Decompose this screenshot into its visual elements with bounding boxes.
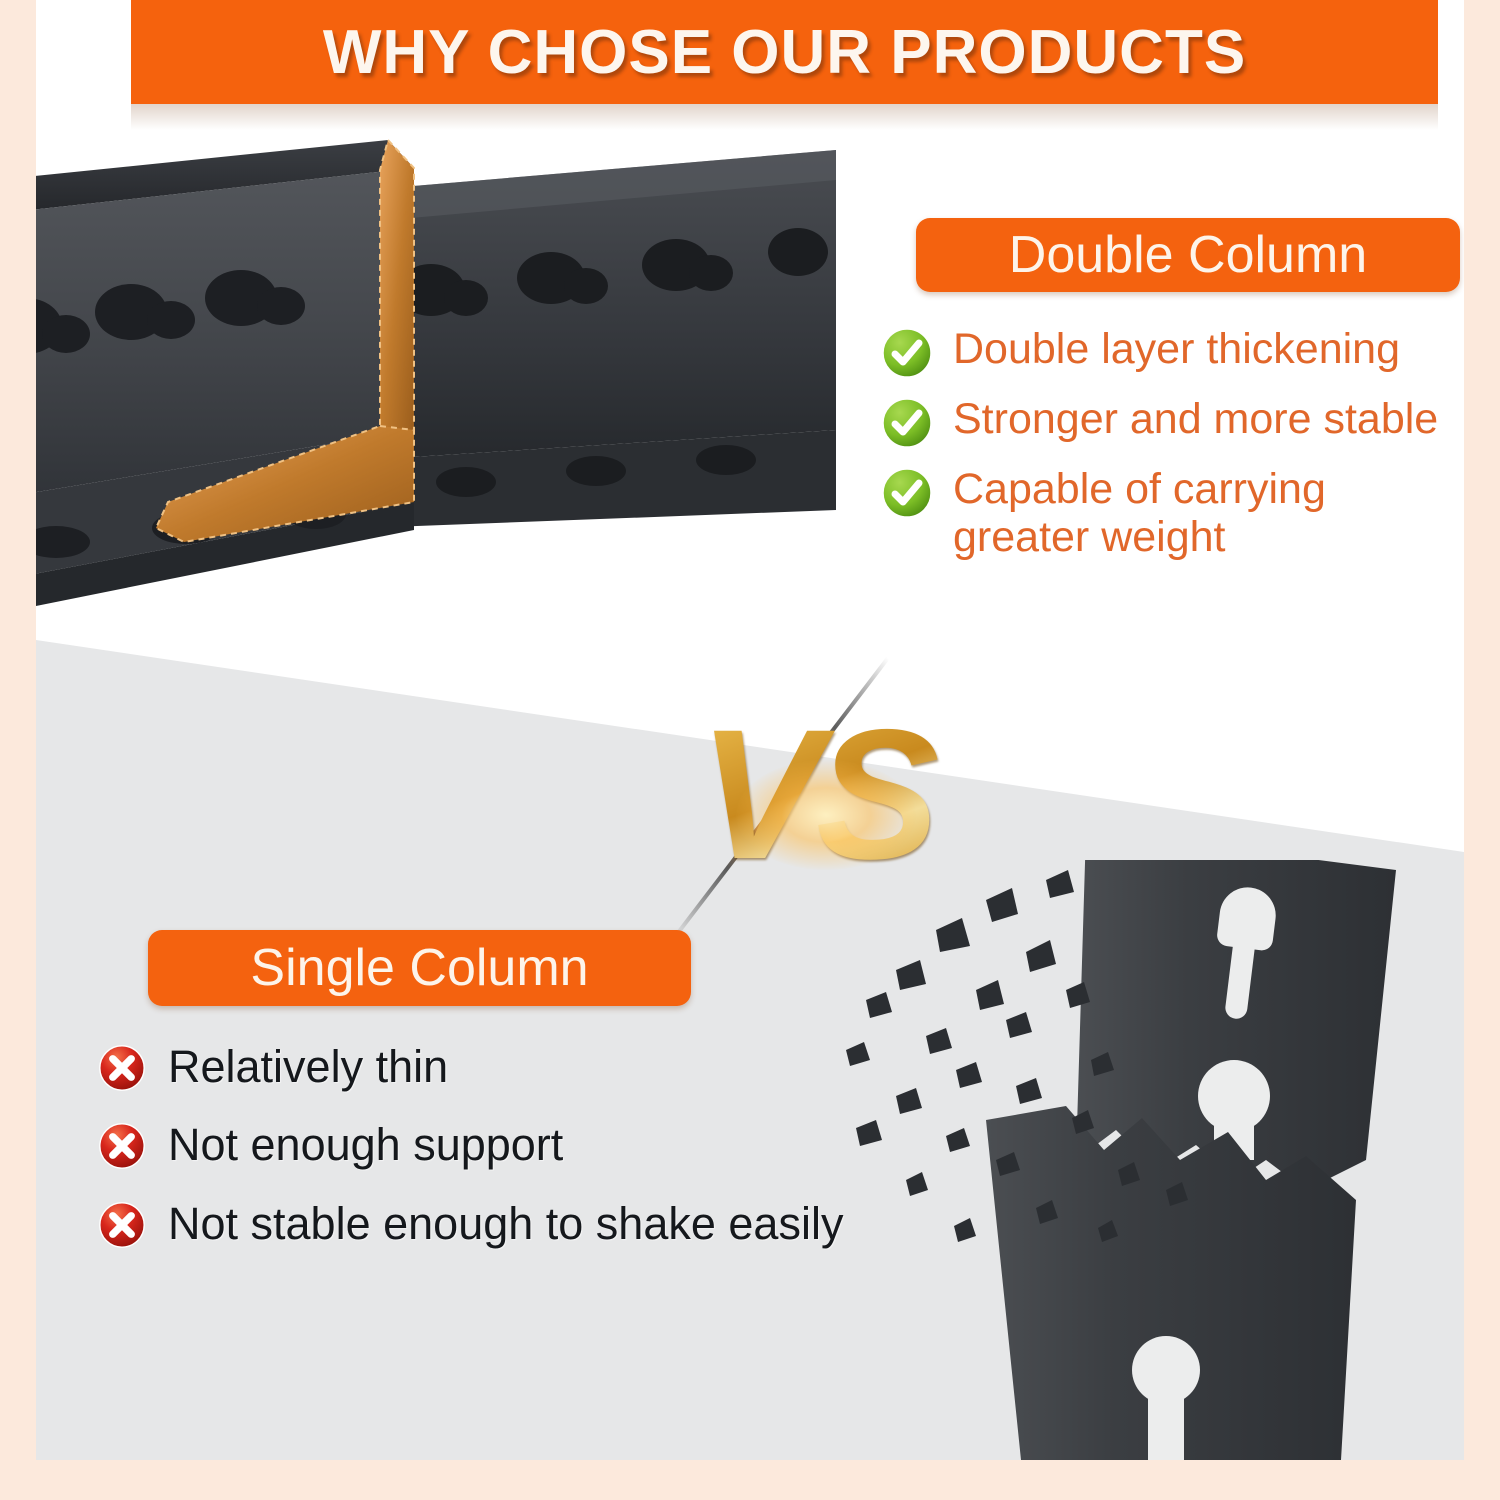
content-plate: VS WHY CHOSE OUR PRODUCTS Double Column bbox=[36, 0, 1464, 1460]
banner-shadow bbox=[131, 104, 1438, 130]
vs-label: VS bbox=[636, 650, 996, 940]
rail-front bbox=[36, 140, 414, 618]
comparison-infographic: VS WHY CHOSE OUR PRODUCTS Double Column bbox=[0, 0, 1500, 1500]
versus-divider: VS bbox=[636, 650, 996, 940]
list-item: Stronger and more stable bbox=[881, 395, 1461, 447]
badge-single-column: Single Column bbox=[148, 930, 691, 1006]
rail-back bbox=[366, 150, 836, 528]
list-item: Not stable enough to shake easily bbox=[98, 1199, 918, 1249]
cross-circle-icon bbox=[98, 1201, 146, 1249]
check-circle-icon bbox=[881, 467, 933, 519]
rail-illustration bbox=[36, 130, 836, 640]
list-item: Relatively thin bbox=[98, 1042, 918, 1092]
cross-circle-icon bbox=[98, 1122, 146, 1170]
list-item: Capable of carrying greater weight bbox=[881, 465, 1461, 561]
badge-double-column: Double Column bbox=[916, 218, 1460, 292]
single-column-drawbacks-list: Relatively thin Not enough support bbox=[98, 1042, 918, 1277]
double-column-benefits-list: Double layer thickening Stronger and mor… bbox=[881, 325, 1461, 579]
page-title: WHY CHOSE OUR PRODUCTS bbox=[131, 0, 1438, 104]
double-column-rail-photo bbox=[36, 130, 836, 640]
list-item-label: Not stable enough to shake easily bbox=[168, 1199, 843, 1249]
list-item: Double layer thickening bbox=[881, 325, 1461, 377]
copper-edge-vertical bbox=[380, 140, 414, 438]
header-banner: WHY CHOSE OUR PRODUCTS bbox=[131, 0, 1438, 104]
check-circle-icon bbox=[881, 397, 933, 449]
list-item: Not enough support bbox=[98, 1120, 918, 1170]
list-item-label: Stronger and more stable bbox=[953, 395, 1438, 443]
cross-circle-icon bbox=[98, 1044, 146, 1092]
list-item-label: Not enough support bbox=[168, 1120, 563, 1170]
list-item-label: Double layer thickening bbox=[953, 325, 1400, 373]
shattered-beam-illustration bbox=[836, 860, 1464, 1460]
check-circle-icon bbox=[881, 327, 933, 379]
broken-beam-photo bbox=[836, 860, 1464, 1460]
list-item-label: Capable of carrying greater weight bbox=[953, 465, 1461, 561]
list-item-label: Relatively thin bbox=[168, 1042, 448, 1092]
